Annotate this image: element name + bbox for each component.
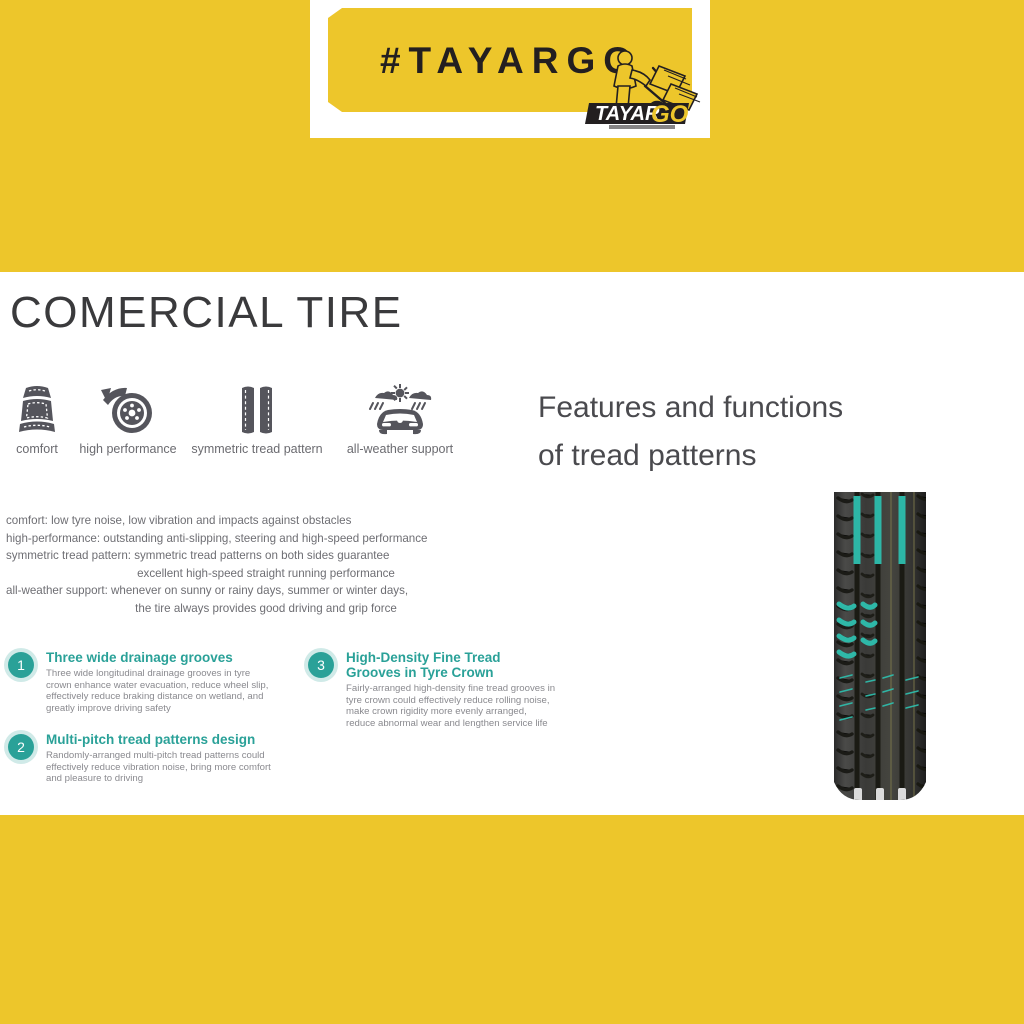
feature-icon-label: high performance [72,442,184,456]
feature-list-item: 2 Multi-pitch tread patterns design Rand… [8,732,276,785]
feature-icon-high-performance: high performance [72,384,184,456]
feature-title: Multi-pitch tread patterns design [46,732,276,747]
description-line: excellent high-speed straight running pe… [6,565,496,583]
right-heading-line-1: Features and functions [538,384,918,432]
feature-title: Three wide drainage grooves [46,650,276,665]
logo-text-accent: GO [651,101,689,128]
feature-icon-symmetric-tread: symmetric tread pattern [186,384,328,456]
car-weather-icon [330,384,470,436]
description-line: all-weather support: whenever on sunny o… [6,582,496,600]
description-line: high-performance: outstanding anti-slipp… [6,530,496,548]
page-title: COMERCIAL TIRE [10,288,403,338]
feature-icon-label: all-weather support [330,442,470,456]
feature-number-badge: 3 [308,652,334,678]
tire-illustration [810,492,950,802]
feature-icon-strip: comfort [0,384,470,474]
description-block: comfort: low tyre noise, low vibration a… [6,512,496,618]
poster-canvas: #TAYARGO [0,0,1024,1024]
description-line: the tire always provides good driving an… [6,600,496,618]
feature-icon-all-weather: all-weather support [330,384,470,456]
feature-description: Three wide longitudinal drainage grooves… [46,668,276,714]
feature-list: 1 Three wide drainage grooves Three wide… [0,650,560,810]
tayargo-logo: TAYAR GO [585,48,703,132]
feature-list-item: 1 Three wide drainage grooves Three wide… [8,650,276,714]
feature-number-badge: 2 [8,734,34,760]
description-line: comfort: low tyre noise, low vibration a… [6,512,496,530]
car-seat-icon [2,384,72,436]
right-panel: Features and functions of tread patterns [520,272,1024,815]
description-line: symmetric tread pattern: symmetric tread… [6,547,496,565]
content-sheet: COMERCIAL TIRE [0,272,1024,815]
feature-icon-label: comfort [2,442,72,456]
tire-tread-icon [186,384,328,436]
feature-number-badge: 1 [8,652,34,678]
right-heading-line-2: of tread patterns [538,432,918,480]
feature-icon-comfort: comfort [2,384,72,456]
right-panel-heading: Features and functions of tread patterns [538,384,918,480]
feature-icon-label: symmetric tread pattern [186,442,328,456]
feature-description: Randomly-arranged multi-pitch tread patt… [46,750,276,785]
brake-disc-icon [72,384,184,436]
header-banner: #TAYARGO [310,0,710,138]
